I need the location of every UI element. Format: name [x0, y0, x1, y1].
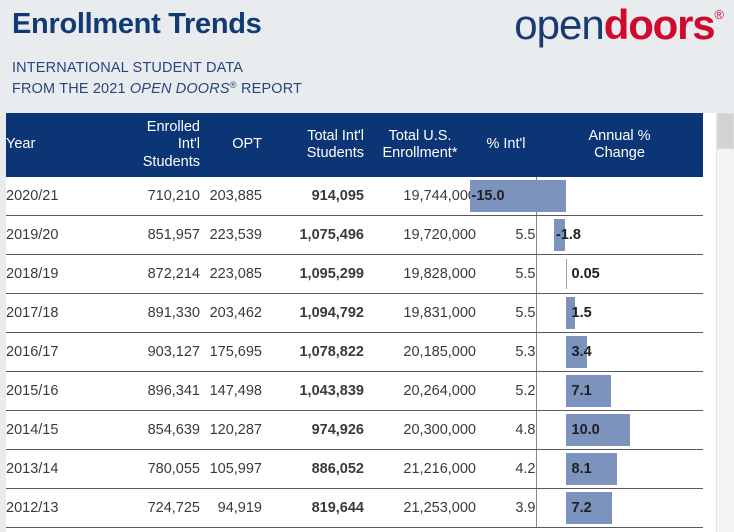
- cell-pct-intl: 4.2: [476, 450, 536, 489]
- cell-pct-intl: 5.5: [476, 255, 536, 294]
- data-bar-container: 7.2: [537, 489, 704, 527]
- header-line: Students: [114, 154, 200, 171]
- cell-enrolled: 872,214: [114, 255, 200, 294]
- cell-enrolled: 724,725: [114, 489, 200, 528]
- cell-total-us: 20,300,000: [364, 411, 476, 450]
- cell-total-us: 21,216,000: [364, 450, 476, 489]
- cell-total-intl: 1,078,822: [262, 333, 364, 372]
- table-row[interactable]: 2018/19872,214223,0851,095,29919,828,000…: [6, 255, 703, 294]
- header-line: Total U.S.: [364, 128, 476, 145]
- cell-enrolled: 903,127: [114, 333, 200, 372]
- data-bar-label: 3.4: [572, 333, 592, 371]
- column-header-opt[interactable]: OPT: [200, 113, 262, 177]
- data-bar-label: -15.0: [472, 177, 505, 215]
- subtitle-report-name: OPEN DOORS: [130, 81, 230, 97]
- cell-total-us: 19,744,000: [364, 177, 476, 216]
- data-bar-label: 7.1: [572, 372, 592, 410]
- table-row[interactable]: 2012/13724,72594,919819,64421,253,0003.9…: [6, 489, 703, 528]
- enrollment-table-container[interactable]: Year Enrolled Int'l Students OPT Total I…: [6, 113, 717, 532]
- column-header-pct-intl[interactable]: % Int'l: [476, 113, 536, 177]
- cell-annual-change: -15.0: [536, 177, 703, 216]
- column-header-total-us[interactable]: Total U.S. Enrollment*: [364, 113, 476, 177]
- table-row[interactable]: 2015/16896,341147,4981,043,83920,264,000…: [6, 372, 703, 411]
- cell-total-intl: 1,094,792: [262, 294, 364, 333]
- header-line: Enrollment*: [364, 145, 476, 162]
- cell-total-us: 19,828,000: [364, 255, 476, 294]
- data-bar-container: -15.0: [537, 177, 704, 215]
- subtitle-line-2: FROM THE 2021 OPEN DOORS® REPORT: [12, 79, 302, 100]
- scrollbar-track-top[interactable]: [717, 113, 734, 149]
- cell-total-us: 20,185,000: [364, 333, 476, 372]
- cell-annual-change: 3.4: [536, 333, 703, 372]
- cell-total-intl: 974,926: [262, 411, 364, 450]
- cell-annual-change: 7.2: [536, 489, 703, 528]
- header-line: Enrolled: [114, 119, 200, 136]
- opendoors-logo: opendoors®: [514, 4, 724, 46]
- cell-opt: 203,462: [200, 294, 262, 333]
- cell-total-intl: 1,043,839: [262, 372, 364, 411]
- registered-mark-icon: ®: [230, 80, 237, 91]
- cell-total-intl: 1,075,496: [262, 216, 364, 255]
- data-bar-container: 1.5: [537, 294, 704, 332]
- page-title: Enrollment Trends: [12, 8, 262, 41]
- zero-baseline-tick: [566, 259, 567, 289]
- cell-annual-change: 10.0: [536, 411, 703, 450]
- cell-pct-intl: 5.5: [476, 294, 536, 333]
- cell-year: 2020/21: [6, 177, 114, 216]
- cell-enrolled: 780,055: [114, 450, 200, 489]
- logo-text-doors: doors: [604, 1, 715, 48]
- cell-pct-intl: 4.8: [476, 411, 536, 450]
- data-bar-label: 10.0: [572, 411, 600, 449]
- table-row[interactable]: 2020/21710,210203,885914,09519,744,0004.…: [6, 177, 703, 216]
- data-bar-container: 10.0: [537, 411, 704, 449]
- page-header: Enrollment Trends INTERNATIONAL STUDENT …: [0, 0, 734, 110]
- cell-total-us: 20,264,000: [364, 372, 476, 411]
- data-bar-label: -1.8: [556, 216, 581, 254]
- cell-enrolled: 710,210: [114, 177, 200, 216]
- subtitle-prefix: FROM THE 2021: [12, 81, 130, 97]
- cell-year: 2017/18: [6, 294, 114, 333]
- header-line: Students: [262, 145, 364, 162]
- cell-opt: 175,695: [200, 333, 262, 372]
- subtitle-suffix: REPORT: [237, 81, 302, 97]
- cell-opt: 94,919: [200, 489, 262, 528]
- table-body: 2020/21710,210203,885914,09519,744,0004.…: [6, 177, 703, 528]
- header-line: Annual %: [536, 128, 703, 145]
- cell-year: 2018/19: [6, 255, 114, 294]
- header-line: Int'l: [114, 136, 200, 153]
- cell-year: 2016/17: [6, 333, 114, 372]
- cell-pct-intl: 5.2: [476, 372, 536, 411]
- cell-total-us: 19,720,000: [364, 216, 476, 255]
- data-bar-container: 8.1: [537, 450, 704, 488]
- cell-enrolled: 851,957: [114, 216, 200, 255]
- enrollment-table: Year Enrolled Int'l Students OPT Total I…: [6, 113, 703, 528]
- cell-annual-change: 8.1: [536, 450, 703, 489]
- cell-opt: 120,287: [200, 411, 262, 450]
- cell-annual-change: 0.05: [536, 255, 703, 294]
- logo-text-open: open: [514, 1, 603, 48]
- scrollbar-thumb[interactable]: [718, 114, 733, 148]
- data-bar-label: 1.5: [572, 294, 592, 332]
- data-bar-label: 0.05: [572, 255, 600, 293]
- cell-enrolled: 854,639: [114, 411, 200, 450]
- cell-total-intl: 1,095,299: [262, 255, 364, 294]
- cell-pct-intl: 3.9: [476, 489, 536, 528]
- cell-year: 2013/14: [6, 450, 114, 489]
- cell-enrolled: 891,330: [114, 294, 200, 333]
- cell-total-intl: 914,095: [262, 177, 364, 216]
- cell-total-us: 19,831,000: [364, 294, 476, 333]
- header-line: Total Int'l: [262, 128, 364, 145]
- column-header-total-intl[interactable]: Total Int'l Students: [262, 113, 364, 177]
- header-line: Change: [536, 145, 703, 162]
- column-header-year[interactable]: Year: [6, 113, 114, 177]
- cell-total-intl: 886,052: [262, 450, 364, 489]
- logo-registered-icon: ®: [714, 7, 724, 22]
- cell-opt: 105,997: [200, 450, 262, 489]
- data-bar-container: 0.05: [537, 255, 704, 293]
- cell-pct-intl: 5.3: [476, 333, 536, 372]
- column-header-enrolled[interactable]: Enrolled Int'l Students: [114, 113, 200, 177]
- data-bar-label: 8.1: [572, 450, 592, 488]
- table-row[interactable]: 2017/18891,330203,4621,094,79219,831,000…: [6, 294, 703, 333]
- subtitle-line-1: INTERNATIONAL STUDENT DATA: [12, 58, 302, 79]
- table-row[interactable]: 2016/17903,127175,6951,078,82220,185,000…: [6, 333, 703, 372]
- table-row[interactable]: 2019/20851,957223,5391,075,49619,720,000…: [6, 216, 703, 255]
- data-bar-container: 3.4: [537, 333, 704, 371]
- cell-opt: 223,085: [200, 255, 262, 294]
- data-bar-container: 7.1: [537, 372, 704, 410]
- data-bar-container: -1.8: [537, 216, 704, 254]
- table-header: Year Enrolled Int'l Students OPT Total I…: [6, 113, 703, 177]
- cell-opt: 203,885: [200, 177, 262, 216]
- table-row[interactable]: 2014/15854,639120,287974,92620,300,0004.…: [6, 411, 703, 450]
- vertical-scrollbar[interactable]: [716, 113, 734, 532]
- data-bar-label: 7.2: [572, 489, 592, 527]
- column-header-annual-change[interactable]: Annual % Change: [536, 113, 703, 177]
- cell-annual-change: 7.1: [536, 372, 703, 411]
- cell-opt: 223,539: [200, 216, 262, 255]
- subtitle-block: INTERNATIONAL STUDENT DATA FROM THE 2021…: [12, 58, 302, 99]
- cell-total-intl: 819,644: [262, 489, 364, 528]
- header-row: Year Enrolled Int'l Students OPT Total I…: [6, 113, 703, 177]
- cell-enrolled: 896,341: [114, 372, 200, 411]
- table-row[interactable]: 2013/14780,055105,997886,05221,216,0004.…: [6, 450, 703, 489]
- cell-total-us: 21,253,000: [364, 489, 476, 528]
- cell-annual-change: 1.5: [536, 294, 703, 333]
- cell-pct-intl: 5.5: [476, 216, 536, 255]
- cell-year: 2012/13: [6, 489, 114, 528]
- cell-annual-change: -1.8: [536, 216, 703, 255]
- cell-year: 2015/16: [6, 372, 114, 411]
- cell-year: 2014/15: [6, 411, 114, 450]
- cell-year: 2019/20: [6, 216, 114, 255]
- cell-opt: 147,498: [200, 372, 262, 411]
